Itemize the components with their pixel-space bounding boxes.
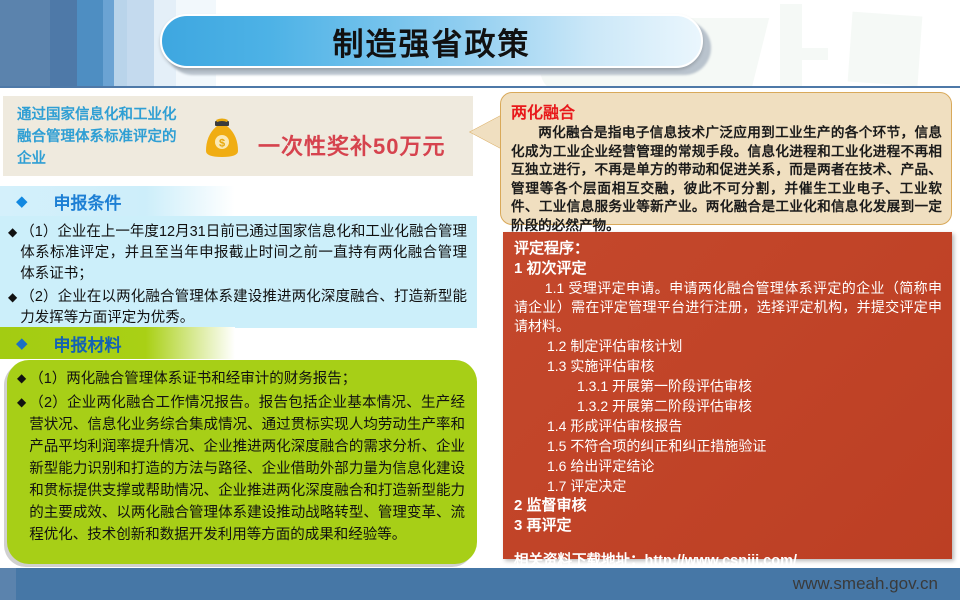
section-header-conditions: ◆ 申报条件 xyxy=(0,186,235,216)
svg-text:$: $ xyxy=(219,138,225,150)
materials-heading: 申报材料 xyxy=(54,331,122,356)
callout-box-lianghua: 两化融合 两化融合是指电子信息技术广泛应用到工业生产的各个环节，信息化成为工业企… xyxy=(500,92,952,225)
procedure-level1-1: 1 初次评定 xyxy=(514,259,942,279)
award-amount-text: 一次性奖补50万元 xyxy=(258,129,445,161)
callout-tail xyxy=(470,115,502,149)
callout-title: 两化融合 xyxy=(511,99,942,123)
stripe-4 xyxy=(103,0,114,88)
stripe-3 xyxy=(77,0,103,88)
conditions-content-box: ◆ （1）企业在上一年度12月31日前已通过国家信息化和工业化融合管理体系标准评… xyxy=(0,216,477,328)
procedure-title: 评定程序： xyxy=(514,239,942,259)
list-item: ◆ （1）企业在上一年度12月31日前已通过国家信息化和工业化融合管理体系标准评… xyxy=(8,222,467,285)
page-title: 制造强省政策 xyxy=(160,14,705,70)
materials-item-1: （1）两化融合管理体系证书和经审计的财务报告； xyxy=(29,368,356,390)
stripe-1 xyxy=(0,0,50,88)
stripe-5 xyxy=(114,0,127,88)
procedure-item-1-3-1: 1.3.1 开展第一阶段评估审核 xyxy=(514,376,942,396)
materials-content-box: ◆ （1）两化融合管理体系证书和经审计的财务报告； ◆ （2）企业两化融合工作情… xyxy=(7,360,477,564)
header-divider-line xyxy=(0,86,960,88)
procedure-level1-3: 3 再评定 xyxy=(514,516,942,536)
conditions-item-2: （2）企业在以两化融合管理体系建设推进两化深度融合、打造新型能力发挥等方面评定为… xyxy=(20,287,467,329)
materials-item-2: （2）企业两化融合工作情况报告。报告包括企业基本情况、生产经营状况、信息化业务综… xyxy=(29,392,465,546)
procedure-item-1-4: 1.4 形成评估审核报告 xyxy=(514,416,942,436)
diamond-bullet-icon: ◆ xyxy=(17,392,26,413)
diamond-bullet-icon: ◆ xyxy=(8,222,17,243)
procedure-item-1-7: 1.7 评定决定 xyxy=(514,476,942,496)
list-item: ◆ （2）企业两化融合工作情况报告。报告包括企业基本情况、生产经营状况、信息化业… xyxy=(17,392,465,546)
procedure-level1-2: 2 监督审核 xyxy=(514,496,942,516)
procedure-item-1-5: 1.5 不符合项的纠正和纠正措施验证 xyxy=(514,436,942,456)
diamond-bullet-icon: ◆ xyxy=(8,287,17,308)
stripe-6 xyxy=(127,0,154,88)
callout-body: 两化融合是指电子信息技术广泛应用到工业生产的各个环节，信息化成为工业企业经营管理… xyxy=(511,124,942,236)
diamond-bullet-icon: ◆ xyxy=(17,368,26,389)
footer-site-url: www.smeah.gov.cn xyxy=(793,574,938,594)
section-header-materials: ◆ 申报材料 xyxy=(0,327,235,359)
diamond-bullet-icon: ◆ xyxy=(16,334,28,352)
conditions-heading: 申报条件 xyxy=(54,189,122,214)
list-item: ◆ （1）两化融合管理体系证书和经审计的财务报告； xyxy=(17,368,465,390)
list-item: ◆ （2）企业在以两化融合管理体系建设推进两化深度融合、打造新型能力发挥等方面评… xyxy=(8,287,467,329)
procedure-box: 评定程序： 1 初次评定 1.1 受理评定申请。申请两化融合管理体系评定的企业（… xyxy=(503,232,952,559)
procedure-item-1-6: 1.6 给出评定结论 xyxy=(514,456,942,476)
procedure-item-1-1: 1.1 受理评定申请。申请两化融合管理体系评定的企业（简称申请企业）需在评定管理… xyxy=(514,279,942,336)
procedure-item-1-2: 1.2 制定评估审核计划 xyxy=(514,336,942,356)
diamond-bullet-icon: ◆ xyxy=(16,192,28,210)
title-pill: 制造强省政策 xyxy=(160,14,703,68)
award-eligibility-label: 通过国家信息化和工业化融合管理体系标准评定的企业 xyxy=(17,104,187,170)
stripe-2 xyxy=(50,0,77,88)
money-bag-icon: $ xyxy=(198,116,246,164)
slide-root: 制造强省政策 @安徽省人社厅发布 通过国家信息化和工业化融合管理体系标准评定的企… xyxy=(0,0,960,600)
spacer xyxy=(514,536,942,551)
footer-left-accent xyxy=(0,568,16,600)
procedure-item-1-3: 1.3 实施评估审核 xyxy=(514,356,942,376)
page-title-text: 制造强省政策 xyxy=(333,19,531,64)
procedure-item-1-3-2: 1.3.2 开展第二阶段评估审核 xyxy=(514,396,942,416)
conditions-item-1: （1）企业在上一年度12月31日前已通过国家信息化和工业化融合管理体系标准评定，… xyxy=(20,222,467,285)
